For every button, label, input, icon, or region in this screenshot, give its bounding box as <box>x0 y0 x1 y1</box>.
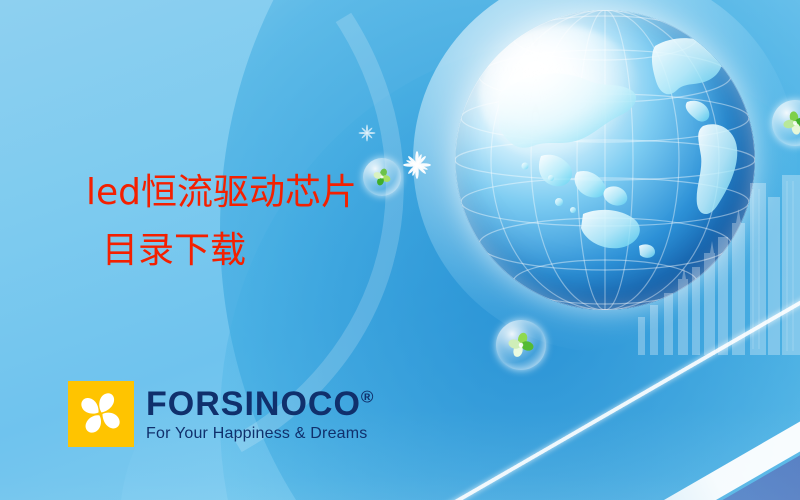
pinwheel-icon <box>782 110 800 136</box>
headline-text: led恒流驱动芯片 目录下载 <box>86 164 357 280</box>
registered-trademark-symbol: ® <box>361 387 374 406</box>
headline-line-2: 目录下载 <box>86 222 357 280</box>
city-skyline-icon <box>600 175 800 355</box>
brand-wordmark: FORSINOCO® <box>146 387 373 421</box>
pinwheel-icon <box>507 331 535 359</box>
logo-text-block: FORSINOCO® For Your Happiness & Dreams <box>146 387 373 442</box>
brand-tagline: For Your Happiness & Dreams <box>146 426 373 442</box>
wordmark-name: FORSINOCO <box>146 385 361 423</box>
headline-line-1: led恒流驱动芯片 <box>86 172 357 213</box>
sparkle-large-icon <box>402 150 432 180</box>
bubble-pinwheel-medium <box>496 320 546 370</box>
forsinoco-pinwheel-mark-icon <box>68 381 134 447</box>
bubble-pinwheel-small <box>363 158 401 196</box>
sparkle-small-icon <box>357 123 377 143</box>
pinwheel-icon <box>372 167 392 187</box>
promotional-banner: led恒流驱动芯片 目录下载 FORSINOCO® For Your Happi… <box>0 0 800 500</box>
brand-logo: FORSINOCO® For Your Happiness & Dreams <box>68 381 373 447</box>
